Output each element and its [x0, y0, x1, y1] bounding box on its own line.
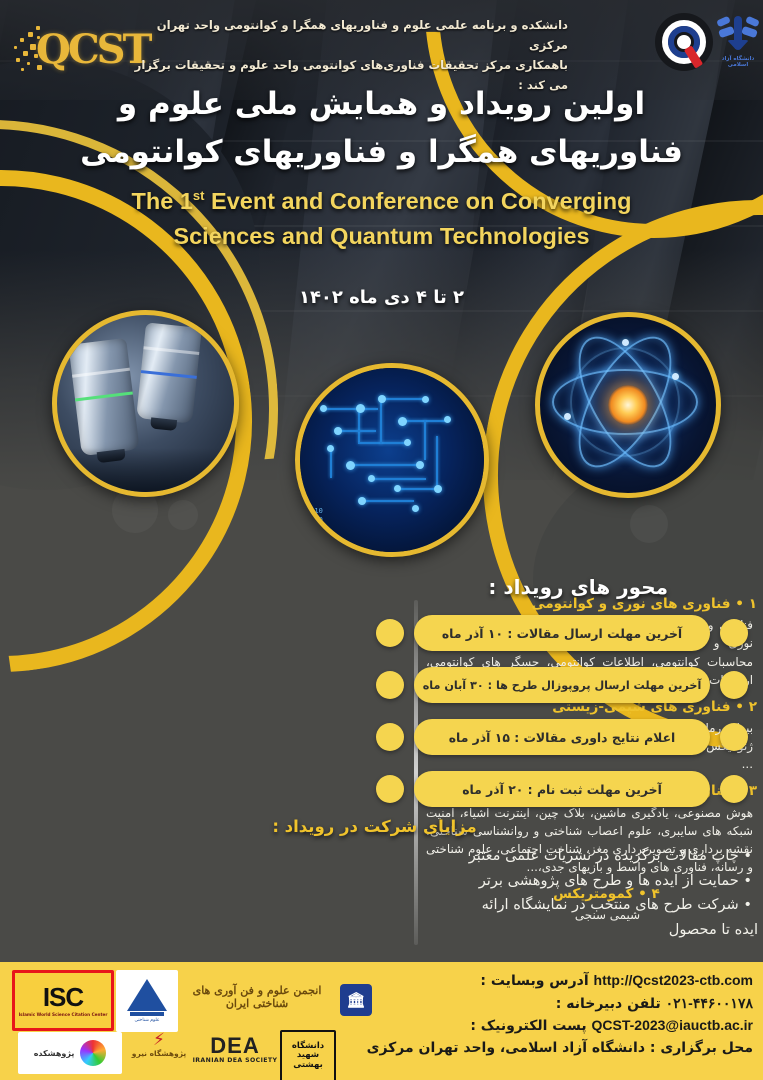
organizer-line-1: دانشکده و برنامه علمی علوم و فناوریهای ه…: [118, 16, 568, 56]
pill-knob-right: [720, 619, 748, 647]
digital-brain-circuit-photo: 0110 0100 1001 1001: [295, 363, 489, 557]
isc-logo-text: ISC: [43, 984, 83, 1010]
title-en-line-1: The 1st Event and Conference on Convergi…: [0, 184, 763, 219]
deadline-pill: آخرین مهلت ارسال پروپوزال طرح ها : ۳۰ آب…: [414, 667, 710, 703]
deadline-row: آخرین مهلت ارسال پروپوزال طرح ها : ۳۰ آب…: [372, 664, 752, 707]
title-en-line-2: Sciences and Quantum Technologies: [0, 219, 763, 254]
isc-logo-subtext: Islamic World Science Citation Center: [19, 1012, 108, 1017]
binary-digits-overlay: 0110 0100 1001 1001: [306, 507, 323, 542]
azad-caption: دانشگاه آزاد اسلامی: [716, 56, 760, 68]
phone-value: ۰۲۱-۴۴۶۰۰۱۷۸: [666, 993, 753, 1015]
deadline-pill: آخرین مهلت ثبت نام : ۲۰ آذر ماه: [414, 771, 710, 807]
deadline-row: اعلام نتایج داوری مقالات : ۱۵ آذر ماه: [372, 716, 752, 759]
event-date: ۲ تا ۴ دی ماه ۱۴۰۲: [0, 287, 763, 308]
deadline-label: آخرین مهلت ثبت نام : ۲۰ آذر ماه: [462, 782, 662, 797]
benefit-item: ایده تا محصول: [386, 919, 758, 942]
title-fa-line-1: اولین رویداد و همایش ملی علوم و: [0, 80, 763, 128]
deadline-label: آخرین مهلت ارسال پروپوزال طرح ها : ۳۰ آب…: [423, 679, 702, 692]
bullet-icon: •: [743, 870, 752, 893]
title-en-rest: Event and Conference on Converging: [211, 188, 631, 214]
title-fa-line-2: فناوریهای همگرا و فناوریهای کوانتومی: [0, 128, 763, 176]
dea-logo-text: DEA: [192, 1036, 278, 1057]
lightning-bolt-icon: ⚡: [128, 1032, 190, 1049]
atom-nucleus: [608, 385, 648, 425]
niroo-label: پژوهشگاه نیرو: [128, 1049, 190, 1058]
deadline-label: آخرین مهلت ارسال مقالات : ۱۰ آذر ماه: [442, 626, 682, 641]
deco-circle: [168, 500, 198, 530]
deadline-pill: آخرین مهلت ارسال مقالات : ۱۰ آذر ماه: [414, 615, 710, 651]
shahid-beheshti-university-logo: دانشگاه شهید بهشتی: [280, 1030, 336, 1080]
benefits-list: • چاپ مقالات برگزیده در نشریات علمی معتب…: [372, 845, 758, 943]
deadlines-list: آخرین مهلت ارسال مقالات : ۱۰ آذر ماه آخر…: [372, 612, 752, 820]
venue-line: محل برگزاری : دانشگاه آزاد اسلامی، واحد …: [338, 1038, 753, 1060]
deadline-pill: اعلام نتایج داوری مقالات : ۱۵ آذر ماه: [414, 719, 710, 755]
microscope-objectives-photo: [52, 310, 239, 497]
contact-line: http://Qcst2023-ctb.com آدرس وبسایت :: [338, 970, 753, 993]
pill-knob-left: [376, 723, 404, 751]
cognitive-science-association-name: انجمن علوم و فن آوری های شناختی ایران: [182, 984, 332, 1010]
footer-bar: ISC Islamic World Science Citation Cente…: [0, 962, 763, 1080]
cognitive-science-association-logo: علوم شناختی: [116, 970, 178, 1032]
quantum-research-center-logo: [655, 13, 713, 71]
email-value[interactable]: QCST-2023@iauctb.ac.ir: [592, 1015, 754, 1037]
website-value[interactable]: http://Qcst2023-ctb.com: [594, 970, 753, 992]
pill-knob-left: [376, 775, 404, 803]
pill-knob-left: [376, 671, 404, 699]
niroo-research-institute-logo: ⚡ پژوهشگاه نیرو: [128, 1032, 190, 1076]
benefits-section-title: مزایای شرکت در رویداد :: [0, 817, 749, 836]
conference-poster: QCST دانشکده و برنامه علمی علوم و فناوری…: [0, 0, 763, 1080]
contact-line: QCST-2023@iauctb.ac.ir پست الکترونیک :: [338, 1015, 753, 1038]
deco-circle: [630, 505, 668, 543]
pill-knob-right: [720, 671, 748, 699]
contact-info: http://Qcst2023-ctb.com آدرس وبسایت : ۰۲…: [338, 970, 753, 1060]
contact-line: ۰۲۱-۴۴۶۰۰۱۷۸ تلفن دبیرخانه :: [338, 993, 753, 1016]
dea-logo-subtext: IRANIAN DEA SOCIETY: [192, 1057, 278, 1064]
isc-logo: ISC Islamic World Science Citation Cente…: [12, 970, 114, 1031]
pill-knob-right: [720, 775, 748, 803]
website-label: آدرس وبسایت :: [480, 973, 588, 989]
beheshti-label: دانشگاه شهید بهشتی: [282, 1042, 334, 1070]
iranian-dea-society-logo: DEA IRANIAN DEA SOCIETY: [192, 1036, 278, 1064]
deadline-row: آخرین مهلت ارسال مقالات : ۱۰ آذر ماه: [372, 612, 752, 655]
nour-research-logo: پژوهشکده: [18, 1032, 122, 1074]
sponsor-logos: ISC Islamic World Science Citation Cente…: [6, 966, 336, 1078]
atom-orbitals-photo: [535, 312, 721, 498]
topic-heading: ۱ • فناوری های نوری و کوانتومی: [420, 595, 757, 613]
bullet-icon: •: [743, 845, 752, 868]
title-en-ordinal: st: [193, 188, 205, 203]
benefit-item: • حمایت از ایده ها و طرح های پژوهشی برتر: [386, 870, 758, 893]
pill-knob-left: [376, 619, 404, 647]
phone-label: تلفن دبیرخانه :: [556, 996, 661, 1012]
deadline-row: آخرین مهلت ثبت نام : ۲۰ آذر ماه: [372, 768, 752, 811]
page-title-english: The 1st Event and Conference on Convergi…: [0, 184, 763, 254]
benefit-item: • شرکت طرح های منتخب در نمایشگاه ارائه: [386, 894, 758, 917]
benefit-item: • چاپ مقالات برگزیده در نشریات علمی معتب…: [386, 845, 758, 868]
page-title-persian: اولین رویداد و همایش ملی علوم و فناوریها…: [0, 80, 763, 176]
bullet-icon: •: [743, 894, 752, 917]
email-label: پست الکترونیک :: [470, 1018, 586, 1034]
azad-university-logo: دانشگاه آزاد اسلامی: [716, 10, 760, 72]
pill-knob-right: [720, 723, 748, 751]
deadline-label: اعلام نتایج داوری مقالات : ۱۵ آذر ماه: [449, 730, 676, 745]
title-en-prefix: The 1: [132, 188, 193, 214]
